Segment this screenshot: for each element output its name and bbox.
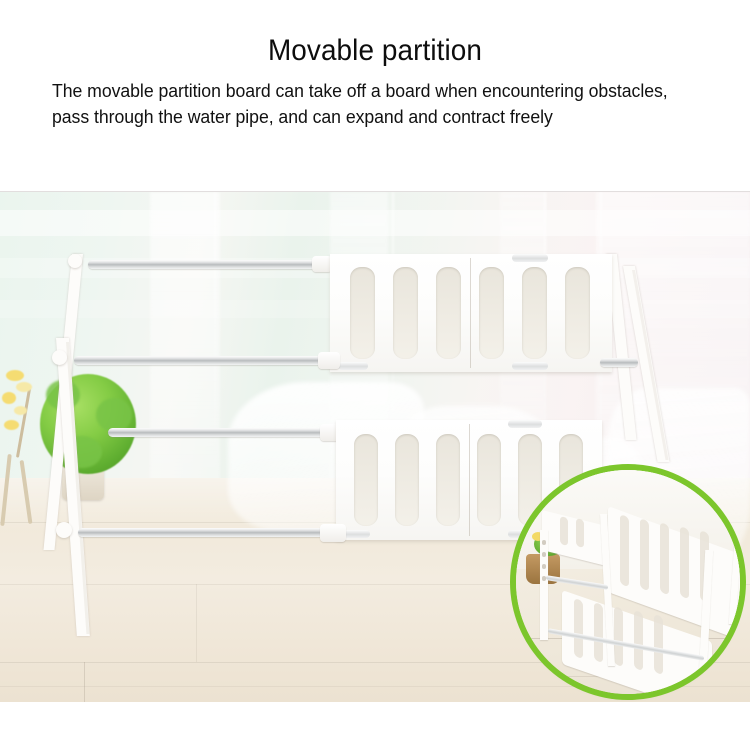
shelf-slot xyxy=(565,267,590,359)
shelf-slot xyxy=(350,267,375,359)
inset-slat-gap xyxy=(640,518,649,591)
shelf-slot xyxy=(522,267,547,359)
inset-deck-gap xyxy=(560,516,568,546)
inset-slat-gap xyxy=(620,514,629,587)
shelf-rail-bottom xyxy=(342,530,370,538)
inset-slat-gap xyxy=(594,602,603,663)
inset-rack-leg xyxy=(540,530,548,640)
inset-leg-perforation xyxy=(542,552,546,557)
page-description: The movable partition board can take off… xyxy=(52,78,679,130)
rail-collar xyxy=(312,256,332,272)
photo-bottom-margin xyxy=(0,702,750,750)
shelf-slot xyxy=(354,434,378,526)
inset-slat-gap xyxy=(634,610,643,671)
inset-slat-gap xyxy=(660,522,669,595)
shelf-partition-seam xyxy=(469,424,470,536)
detail-inset-circle xyxy=(516,470,740,694)
shelf-rail-top xyxy=(508,420,542,428)
rail-collar xyxy=(318,352,340,369)
inset-leg-perforation xyxy=(542,540,546,545)
shelf-rail-bottom xyxy=(338,362,368,370)
page-title: Movable partition xyxy=(26,34,724,68)
chrome-rail-bottom xyxy=(78,528,328,537)
shelf-slot xyxy=(436,434,460,526)
text-header: Movable partition The movable partition … xyxy=(0,0,750,192)
inset-deck-gap xyxy=(576,518,584,548)
shelf-slot xyxy=(395,434,419,526)
chrome-rail-upper-right xyxy=(600,358,638,367)
shelf-slot xyxy=(393,267,418,359)
inset-slat-gap xyxy=(574,598,583,659)
product-photo xyxy=(0,192,750,702)
rack-joint-knob xyxy=(56,522,72,538)
rack-leg-shadow xyxy=(632,270,669,460)
inset-slat-gap xyxy=(654,614,663,675)
chrome-rail-upper-back xyxy=(88,260,320,269)
shelf-rail-bottom xyxy=(512,362,548,370)
inset-slat-gap xyxy=(680,526,689,599)
rack-shelf-upper xyxy=(330,254,612,372)
rack-joint-knob xyxy=(68,254,82,268)
rail-collar-telescoping xyxy=(320,524,346,542)
shelf-slot xyxy=(479,267,504,359)
shelf-slot xyxy=(436,267,461,359)
shelf-partition-seam xyxy=(470,258,471,368)
rack-joint-knob xyxy=(52,350,67,365)
inset-slat-gap xyxy=(614,606,623,667)
chrome-rail-upper-front xyxy=(74,356,326,365)
shelf-rail-top xyxy=(512,254,548,262)
chrome-rail-lower-back xyxy=(108,428,328,437)
inset-leg-perforation xyxy=(542,564,546,569)
shelf-slot xyxy=(477,434,501,526)
product-image-page: Movable partition The movable partition … xyxy=(0,0,750,750)
